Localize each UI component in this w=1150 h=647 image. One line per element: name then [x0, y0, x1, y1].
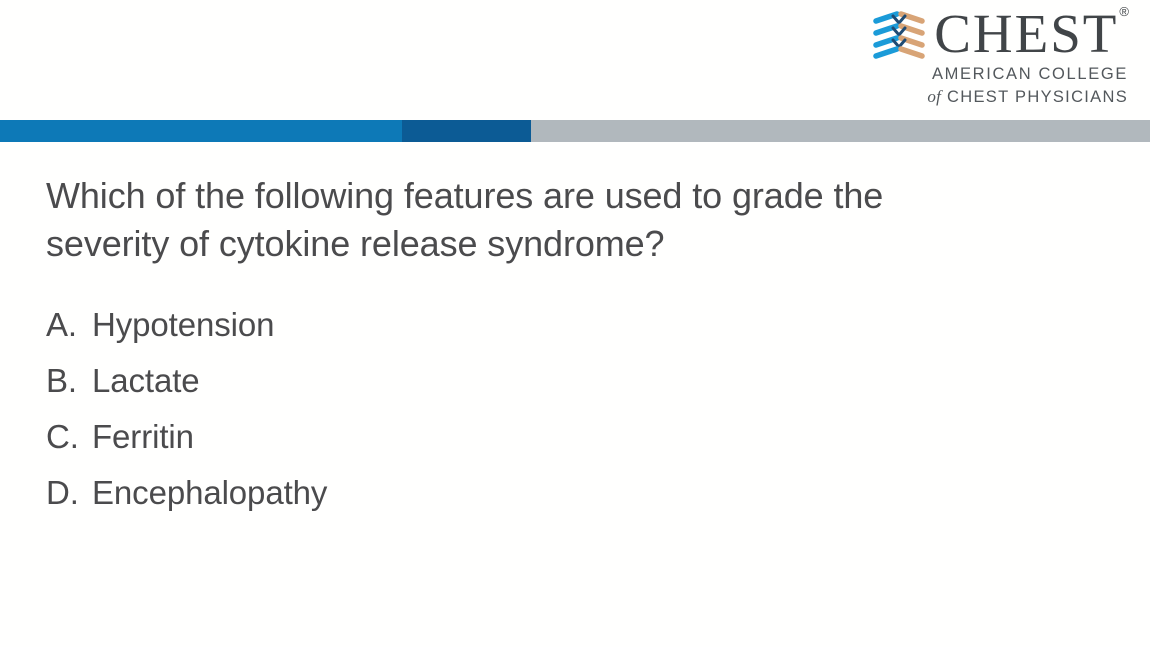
logo-subtitle-chest-physicians: CHEST PHYSICIANS — [947, 88, 1128, 106]
logo-wordmark: CHEST® — [934, 8, 1128, 60]
option-marker-c: C. — [46, 409, 92, 465]
progress-segment-light — [0, 120, 402, 142]
progress-segment-dark — [402, 120, 531, 142]
answer-option-a[interactable]: A. Hypotension — [46, 297, 1110, 353]
logo-subtitle-line1: AMERICAN COLLEGE — [932, 65, 1128, 84]
logo-subtitle-line2: of CHEST PHYSICIANS — [927, 87, 1128, 107]
option-marker-b: B. — [46, 353, 92, 409]
option-text-b: Lactate — [92, 353, 200, 409]
option-text-a: Hypotension — [92, 297, 274, 353]
logo-subtitle-of: of — [927, 87, 941, 106]
logo-top-row: CHEST® — [873, 8, 1128, 60]
answer-option-c[interactable]: C. Ferritin — [46, 409, 1110, 465]
chest-logo: CHEST® AMERICAN COLLEGE of CHEST PHYSICI… — [873, 8, 1128, 107]
registered-trademark-icon: ® — [1119, 4, 1129, 19]
slide-content: Which of the following features are used… — [46, 172, 1110, 537]
slide-canvas: CHEST® AMERICAN COLLEGE of CHEST PHYSICI… — [0, 0, 1150, 647]
question-text: Which of the following features are used… — [46, 172, 976, 267]
chest-chevron-mark-icon — [873, 9, 925, 59]
option-text-d: Encephalopathy — [92, 465, 327, 521]
option-marker-a: A. — [46, 297, 92, 353]
accent-progress-bar — [0, 120, 1150, 142]
option-marker-d: D. — [46, 465, 92, 521]
answer-options-list: A. Hypotension B. Lactate C. Ferritin D.… — [46, 297, 1110, 521]
answer-option-d[interactable]: D. Encephalopathy — [46, 465, 1110, 521]
answer-option-b[interactable]: B. Lactate — [46, 353, 1110, 409]
logo-wordmark-text: CHEST — [934, 3, 1118, 64]
option-text-c: Ferritin — [92, 409, 194, 465]
progress-segment-gray — [531, 120, 1150, 142]
